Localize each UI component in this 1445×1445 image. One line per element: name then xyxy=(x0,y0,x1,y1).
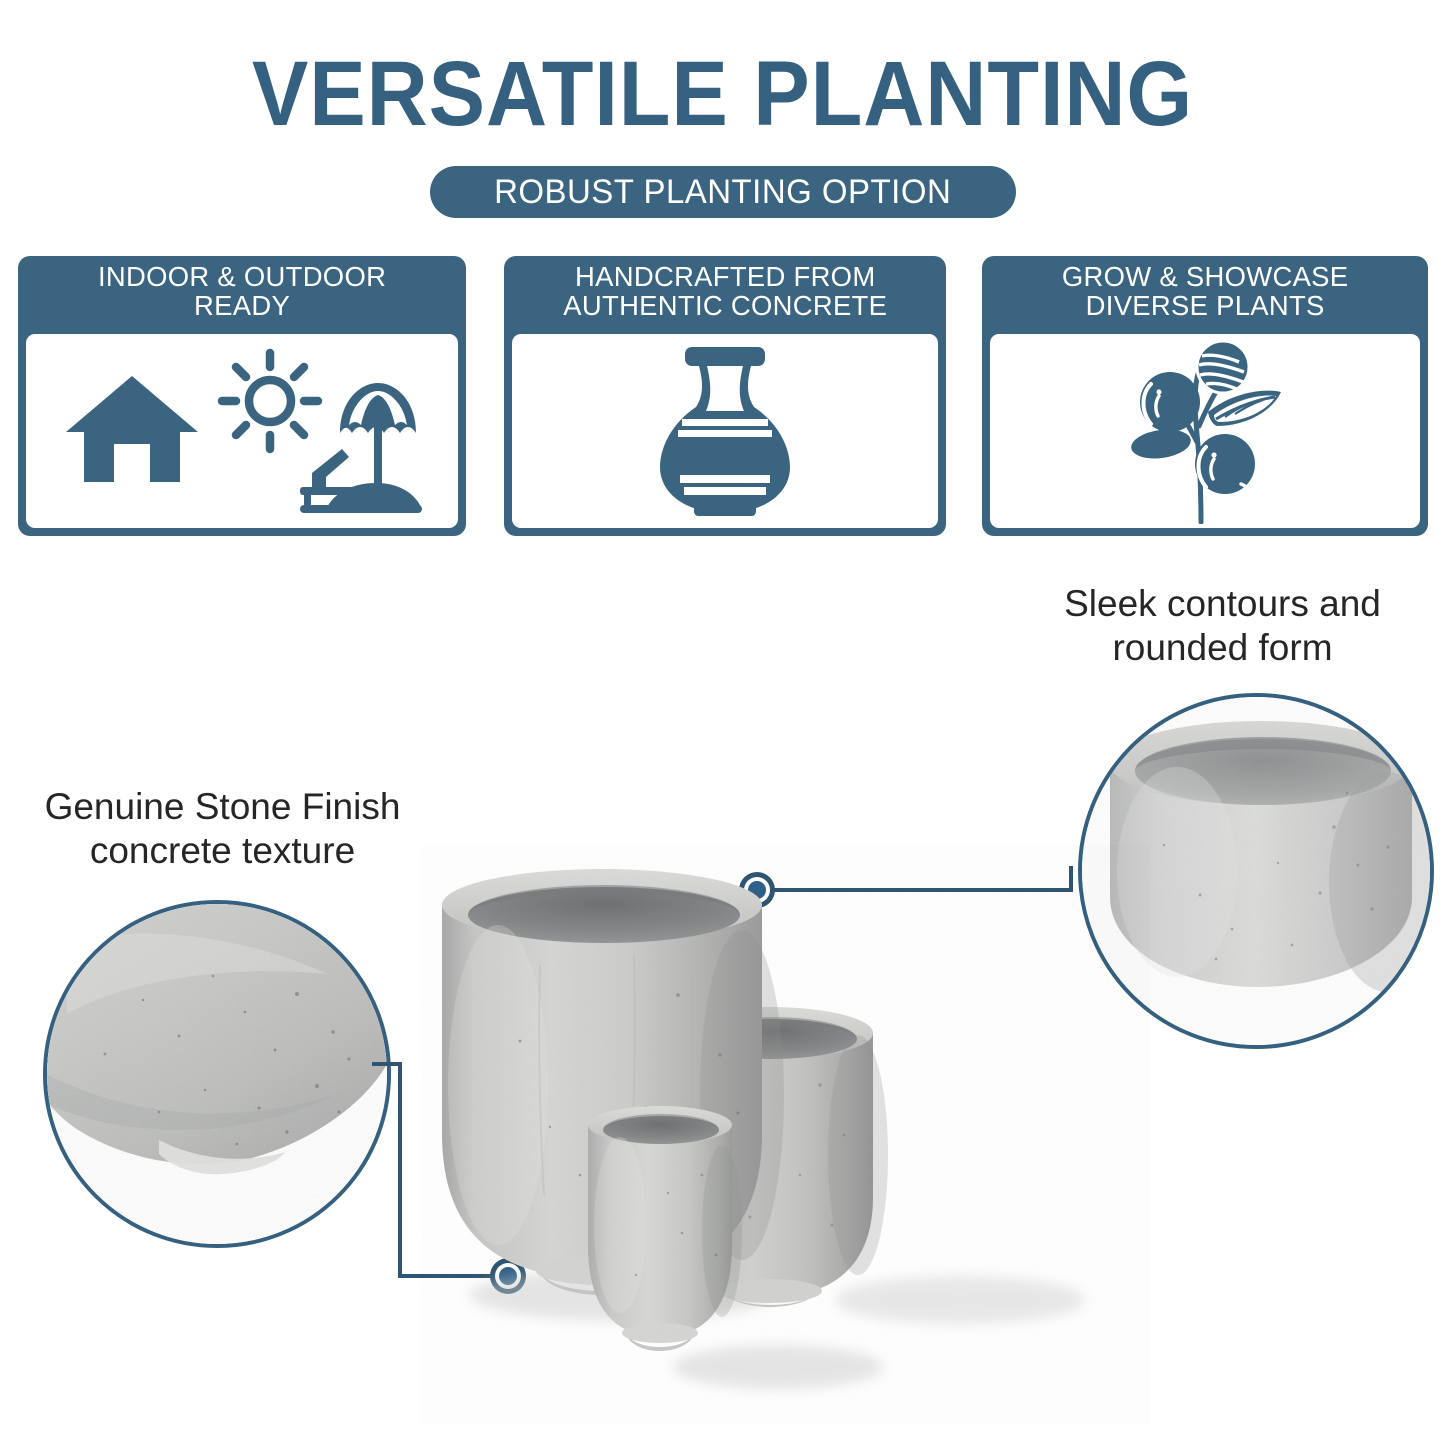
detail-circle-concrete-texture xyxy=(43,900,391,1248)
sun-icon xyxy=(222,353,318,449)
feature-card-indoor-outdoor: INDOOR & OUTDOOR READY xyxy=(18,256,466,536)
feature-card-body xyxy=(512,334,938,528)
feature-card-title: INDOOR & OUTDOOR READY xyxy=(98,263,386,320)
subtitle-badge: ROBUST PLANTING OPTION xyxy=(430,166,1016,218)
berry-branch-icon xyxy=(1113,334,1298,528)
feature-card-handcrafted-concrete: HANDCRAFTED FROM AUTHENTIC CONCRETE xyxy=(504,256,946,536)
callout-label-sleek-contours: Sleek contours and rounded form xyxy=(1010,582,1435,669)
feature-card-title: HANDCRAFTED FROM AUTHENTIC CONCRETE xyxy=(563,263,887,320)
feature-card-body xyxy=(990,334,1420,528)
feature-card-title: GROW & SHOWCASE DIVERSE PLANTS xyxy=(1062,263,1348,320)
subtitle-badge-label: ROBUST PLANTING OPTION xyxy=(494,173,951,212)
striped-berry xyxy=(1197,341,1249,393)
concrete-texture-closeup-image xyxy=(47,904,387,1244)
connector-line-left-vertical xyxy=(398,1062,402,1276)
vase-icon xyxy=(650,341,800,522)
infographic-canvas: VERSATILE PLANTING ROBUST PLANTING OPTIO… xyxy=(0,0,1445,1445)
feature-card-diverse-plants: GROW & SHOWCASE DIVERSE PLANTS xyxy=(982,256,1428,536)
feature-card-body xyxy=(26,334,458,528)
leaf-outlined xyxy=(1208,390,1281,425)
berry-left xyxy=(1140,372,1200,432)
page-title: VERSATILE PLANTING xyxy=(58,48,1387,140)
connector-line-left-horizontal-top xyxy=(372,1062,402,1066)
product-photo-planter-set xyxy=(420,845,1150,1425)
feature-card-header: GROW & SHOWCASE DIVERSE PLANTS xyxy=(986,260,1424,324)
sun-beach-group xyxy=(208,339,423,524)
callout-label-stone-finish: Genuine Stone Finish concrete texture xyxy=(10,785,435,872)
house-icon xyxy=(62,370,202,493)
berry-lower xyxy=(1195,434,1255,494)
feature-card-header: HANDCRAFTED FROM AUTHENTIC CONCRETE xyxy=(508,260,942,324)
feature-card-header: INDOOR & OUTDOOR READY xyxy=(22,260,462,324)
